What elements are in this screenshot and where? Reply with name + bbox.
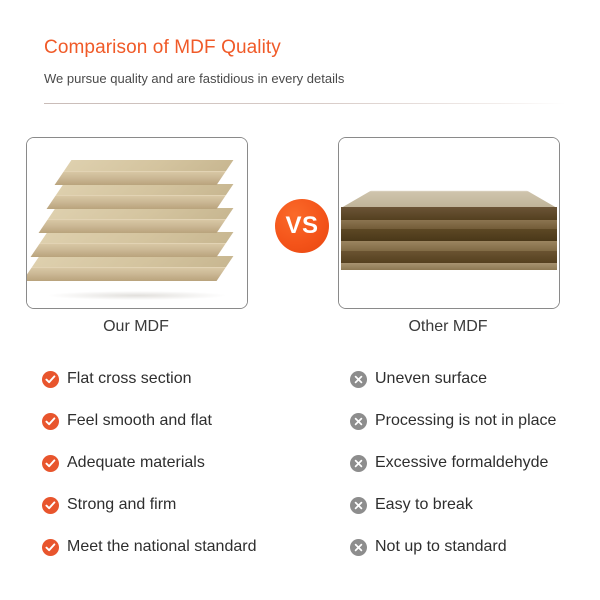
list-item: Processing is not in place (350, 400, 590, 442)
list-item: Easy to break (350, 484, 590, 526)
list-item: Not up to standard (350, 526, 590, 568)
list-item: Strong and firm (42, 484, 312, 526)
list-item: Meet the national standard (42, 526, 312, 568)
particleboard-layer (341, 241, 557, 251)
board-shadow (49, 291, 225, 300)
particleboard-layer (341, 251, 557, 263)
our-mdf-photo (27, 138, 247, 308)
list-item: Excessive formaldehyde (350, 442, 590, 484)
list-item-label: Meet the national standard (67, 539, 256, 555)
list-item-label: Excessive formaldehyde (375, 455, 548, 471)
list-item-label: Flat cross section (67, 371, 191, 387)
cross-circle-icon (350, 539, 367, 556)
list-item: Adequate materials (42, 442, 312, 484)
other-mdf-photo (339, 138, 559, 308)
check-circle-icon (42, 497, 59, 514)
list-item-label: Easy to break (375, 497, 473, 513)
particleboard-stack-illustration (341, 188, 557, 270)
mdf-board (47, 184, 234, 209)
list-item-label: Adequate materials (67, 455, 205, 471)
particleboard-layer (341, 207, 557, 220)
other-mdf-caption: Other MDF (338, 318, 558, 336)
particleboard-layer (341, 263, 557, 270)
list-item: Uneven surface (350, 358, 590, 400)
list-item-label: Processing is not in place (375, 413, 556, 429)
cross-circle-icon (350, 455, 367, 472)
check-circle-icon (42, 539, 59, 556)
check-circle-icon (42, 413, 59, 430)
page-subtitle: We pursue quality and are fastidious in … (44, 60, 564, 88)
list-item-label: Not up to standard (375, 539, 507, 555)
mdf-board-stack-illustration (27, 138, 247, 308)
list-item: Feel smooth and flat (42, 400, 312, 442)
panel-captions: Our MDF Other MDF (0, 318, 600, 344)
other-mdf-feature-list: Uneven surface Processing is not in plac… (350, 358, 590, 568)
other-mdf-image-panel (338, 137, 560, 309)
comparison-page: Comparison of MDF Quality We pursue qual… (0, 0, 600, 600)
particleboard-layer (341, 220, 557, 229)
particleboard-layer (341, 229, 557, 241)
vs-badge: VS (275, 199, 329, 253)
particleboard-top-face (341, 188, 557, 208)
page-header: Comparison of MDF Quality We pursue qual… (44, 36, 564, 88)
list-item: Flat cross section (42, 358, 312, 400)
mdf-board (26, 256, 233, 281)
list-item-label: Feel smooth and flat (67, 413, 212, 429)
our-mdf-image-panel (26, 137, 248, 309)
list-item-label: Strong and firm (67, 497, 176, 513)
page-title: Comparison of MDF Quality (44, 36, 564, 60)
mdf-board (39, 208, 234, 233)
cross-circle-icon (350, 413, 367, 430)
mdf-board (31, 232, 234, 257)
list-item-label: Uneven surface (375, 371, 487, 387)
check-circle-icon (42, 455, 59, 472)
check-circle-icon (42, 371, 59, 388)
cross-circle-icon (350, 497, 367, 514)
particleboard-layers (341, 207, 557, 270)
header-divider (44, 103, 566, 104)
our-mdf-feature-list: Flat cross section Feel smooth and flat … (42, 358, 312, 568)
mdf-board (55, 160, 234, 185)
our-mdf-caption: Our MDF (26, 318, 246, 336)
cross-circle-icon (350, 371, 367, 388)
